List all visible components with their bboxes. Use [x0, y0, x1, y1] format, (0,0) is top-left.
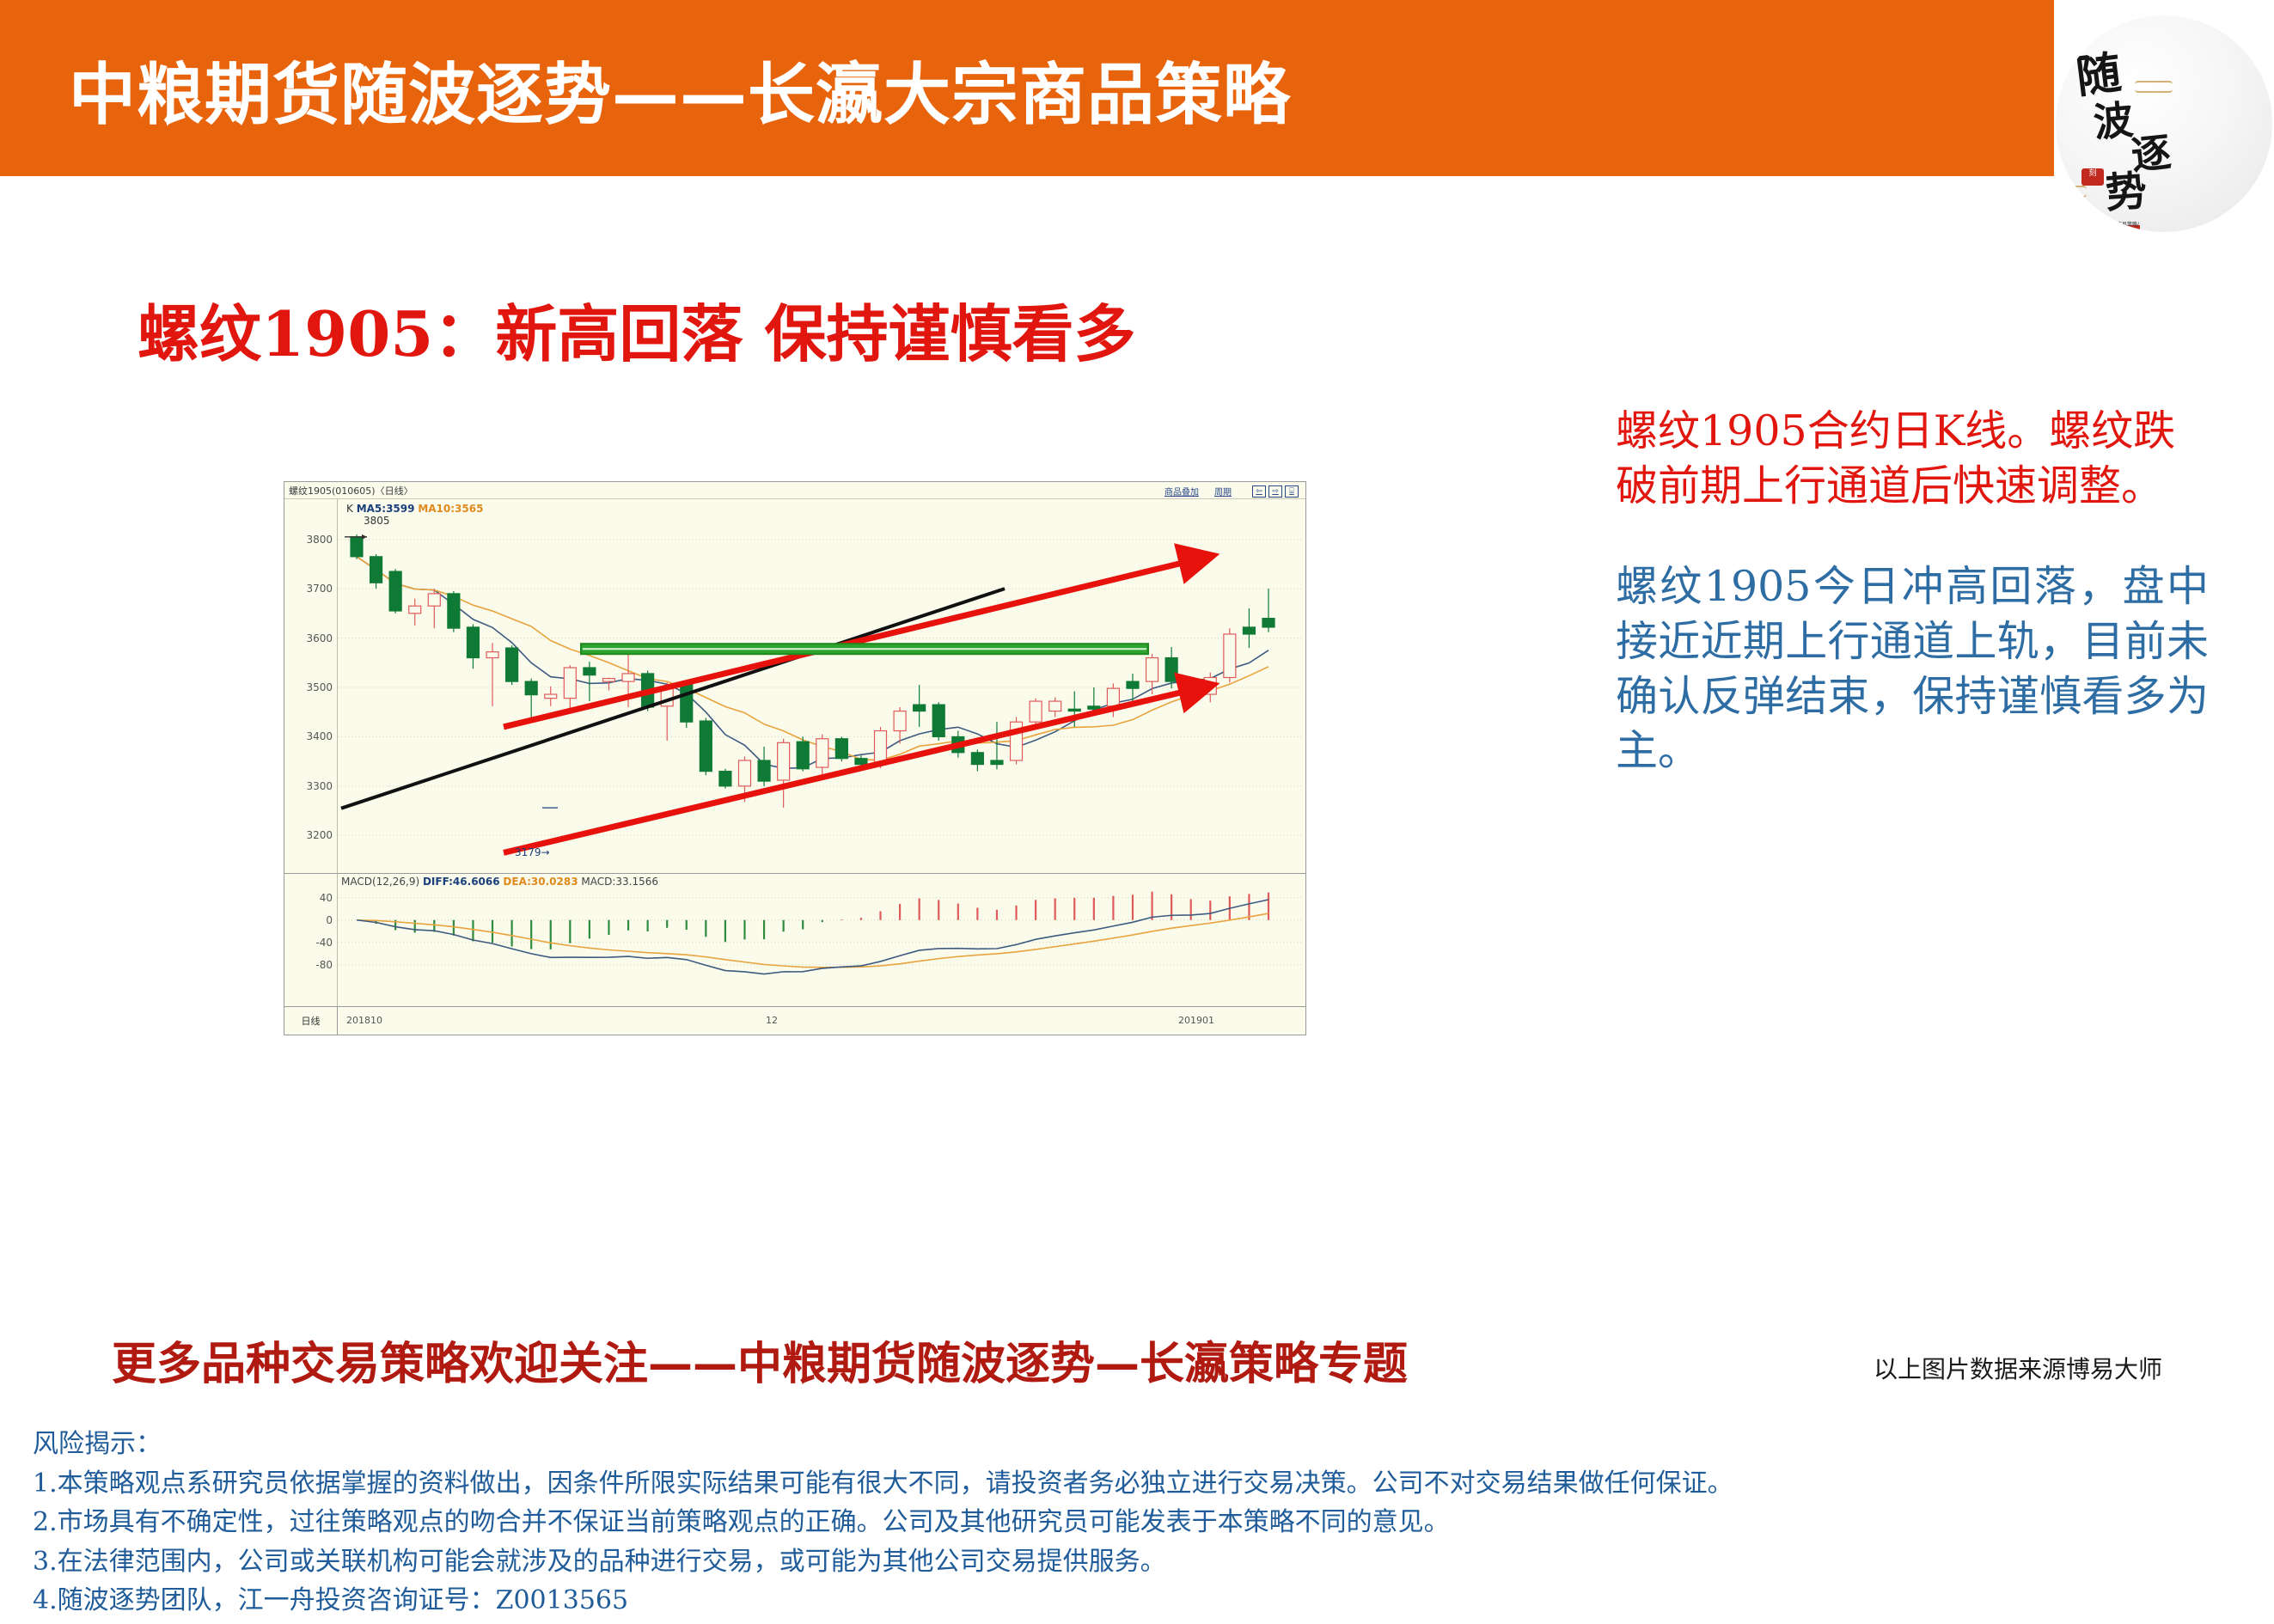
- disclaimer-block: 风险揭示： 1.本策略观点系研究员依据掌握的资料做出，因条件所限实际结果可能有很…: [33, 1425, 2241, 1621]
- logo-tagline: /专业期货交易策略/ 中粮期货 团队 sbzs166: [2085, 222, 2149, 232]
- chart-toolbar-links: 商品叠加 周期 ⇦ ⇨ ⌸: [1165, 485, 1299, 498]
- nav-prev-icon[interactable]: ⇦: [1252, 485, 1266, 498]
- macd-y-tick: -80: [315, 959, 333, 971]
- nav-fit-icon[interactable]: ⌸: [1285, 485, 1299, 498]
- logo-tagline-line: 中粮期货: [2085, 229, 2149, 232]
- period-label: 日线: [284, 1007, 338, 1035]
- promo-banner: 更多品种交易策略欢迎关注——中粮期货随波逐势—长瀛策略专题: [112, 1328, 1408, 1392]
- slide-headline: 螺纹1905：新高回落 保持谨慎看多: [138, 284, 1135, 374]
- disclaimer-title: 风险揭示：: [33, 1425, 2241, 1464]
- commentary-blue-note: 螺纹1905今日冲高回落，盘中接近近期上行通道上轨，目前未确认反弹结束，保持谨慎…: [1616, 559, 2209, 778]
- brand-logo: 随 波 逐 势 刻 /专业期货交易策略/ 中粮期货 团队 sbzs166: [2056, 15, 2272, 232]
- macd-pane[interactable]: MACD(12,26,9) DIFF:46.6066 DEA:30.0283 M…: [284, 873, 1305, 1006]
- macd-y-tick: 40: [320, 892, 333, 904]
- price-pane[interactable]: K MA5:3599 MA10:3565 3805 3179→ 32003300…: [284, 499, 1305, 873]
- commentary-red-note: 螺纹1905合约日K线。螺纹跌破前期上行通道后快速调整。: [1616, 404, 2209, 513]
- disclaimer-item: 4.随波逐势团队，江一舟投资咨询证号：Z0013565: [33, 1581, 2241, 1621]
- chart-nav-buttons: ⇦ ⇨ ⌸: [1252, 485, 1299, 498]
- date-tick: 12: [766, 1015, 778, 1026]
- date-tick: 201810: [346, 1015, 382, 1026]
- price-y-tick: 3300: [306, 780, 333, 792]
- period-link[interactable]: 周期: [1214, 485, 1232, 498]
- logo-tagline-line: /专业期货交易策略/: [2085, 222, 2149, 229]
- price-y-tick: 3800: [306, 534, 333, 546]
- price-y-tick: 3400: [306, 730, 333, 742]
- chart-symbol-label: 螺纹1905(010605)〈日线〉: [289, 484, 413, 498]
- overlay-link[interactable]: 商品叠加: [1165, 485, 1199, 498]
- chart-toolbar: 螺纹1905(010605)〈日线〉 商品叠加 周期 ⇦ ⇨ ⌸: [284, 482, 1305, 499]
- cloud-motif-icon: [2135, 81, 2173, 93]
- price-y-tick: 3700: [306, 583, 333, 595]
- commentary-panel: 螺纹1905合约日K线。螺纹跌破前期上行通道后快速调整。 螺纹1905今日冲高回…: [1616, 404, 2209, 778]
- disclaimer-item: 3.在法律范围内，公司或关联机构可能会就涉及的品种进行交易，或可能为其他公司交易…: [33, 1542, 2241, 1582]
- logo-char-sui: 随: [2074, 51, 2124, 101]
- seal-stamp-icon: 刻: [2081, 168, 2104, 186]
- swing-low-label: 3179→: [515, 846, 550, 858]
- disclaimer-item: 1.本策略观点系研究员依据掌握的资料做出，因条件所限实际结果可能有很大不同，请投…: [33, 1464, 2241, 1504]
- macd-y-tick: -40: [315, 937, 333, 949]
- date-axis: 日线 20181012201901: [284, 1006, 1305, 1035]
- logo-char-shi: 势: [2104, 170, 2148, 214]
- page-title: 中粮期货随波逐势——长瀛大宗商品策略: [69, 41, 1291, 137]
- cloud-motif-icon: [2057, 186, 2087, 198]
- source-note: 以上图片数据来源博易大师: [1874, 1351, 2162, 1385]
- date-tick: 201901: [1178, 1015, 1214, 1026]
- price-plot: [284, 499, 1305, 873]
- swing-high-label: 3805: [364, 515, 390, 527]
- nav-next-icon[interactable]: ⇨: [1268, 485, 1282, 498]
- price-y-tick: 3200: [306, 829, 333, 841]
- macd-plot: [284, 874, 1305, 1007]
- disclaimer-item: 2.市场具有不确定性，过往策略观点的吻合并不保证当前策略观点的正确。公司及其他研…: [33, 1503, 2241, 1542]
- macd-y-tick: 0: [326, 914, 333, 926]
- kline-chart[interactable]: 螺纹1905(010605)〈日线〉 商品叠加 周期 ⇦ ⇨ ⌸ K MA5:3…: [284, 481, 1306, 1035]
- price-y-tick: 3500: [306, 681, 333, 693]
- logo-char-bo: 波: [2092, 100, 2135, 143]
- price-y-tick: 3600: [306, 632, 333, 644]
